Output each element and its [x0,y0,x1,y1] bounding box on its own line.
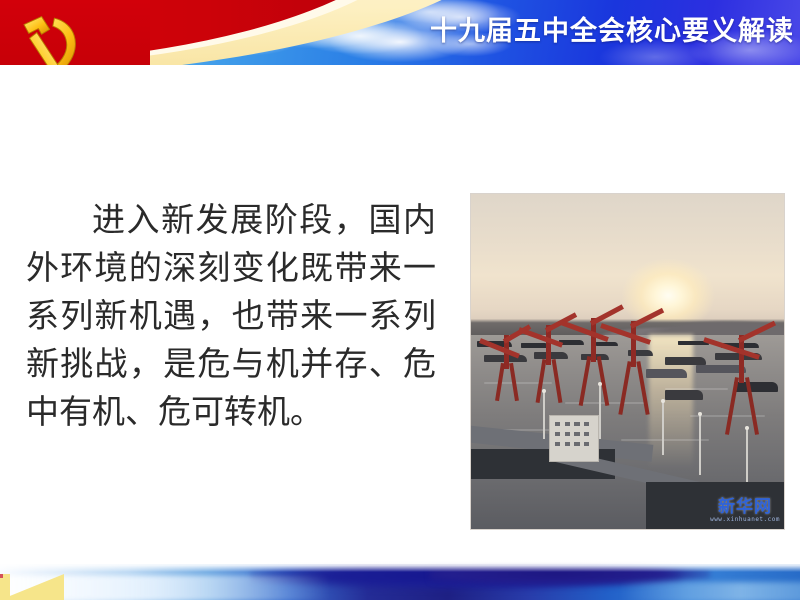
body-paragraph: 进入新发展阶段，国内外环境的深刻变化既带来一系列新机遇，也带来一系列新挑战，是危… [26,196,436,436]
watermark-text: 新华网 [710,498,780,516]
presentation-slide: 十九届五中全会核心要义解读 进入新发展阶段，国内外环境的深刻变化既带来一系列新机… [0,0,800,600]
header-banner: 十九届五中全会核心要义解读 [0,0,800,65]
footer-watercolor-band [0,560,800,600]
ink-wash-light-right [620,582,800,600]
ink-wash-top-fade [0,560,800,572]
slide-body: 进入新发展阶段，国内外环境的深刻变化既带来一系列新机遇，也带来一系列新挑战，是危… [0,65,800,535]
photo-dock-building [549,415,599,462]
photo-sun-reflection [649,335,693,469]
cpc-hammer-sickle-emblem-icon [8,6,88,65]
photo-canvas [471,194,784,529]
xinhuanet-watermark: 新华网 www.xinhuanet.com [710,498,780,524]
yellow-accent-wedge [0,574,64,600]
port-harbor-sunset-photo: 新华网 www.xinhuanet.com [470,193,785,530]
red-accent-dot [0,574,3,578]
slide-header-title: 十九届五中全会核心要义解读 [430,4,794,60]
watermark-url: www.xinhuanet.com [710,516,780,524]
